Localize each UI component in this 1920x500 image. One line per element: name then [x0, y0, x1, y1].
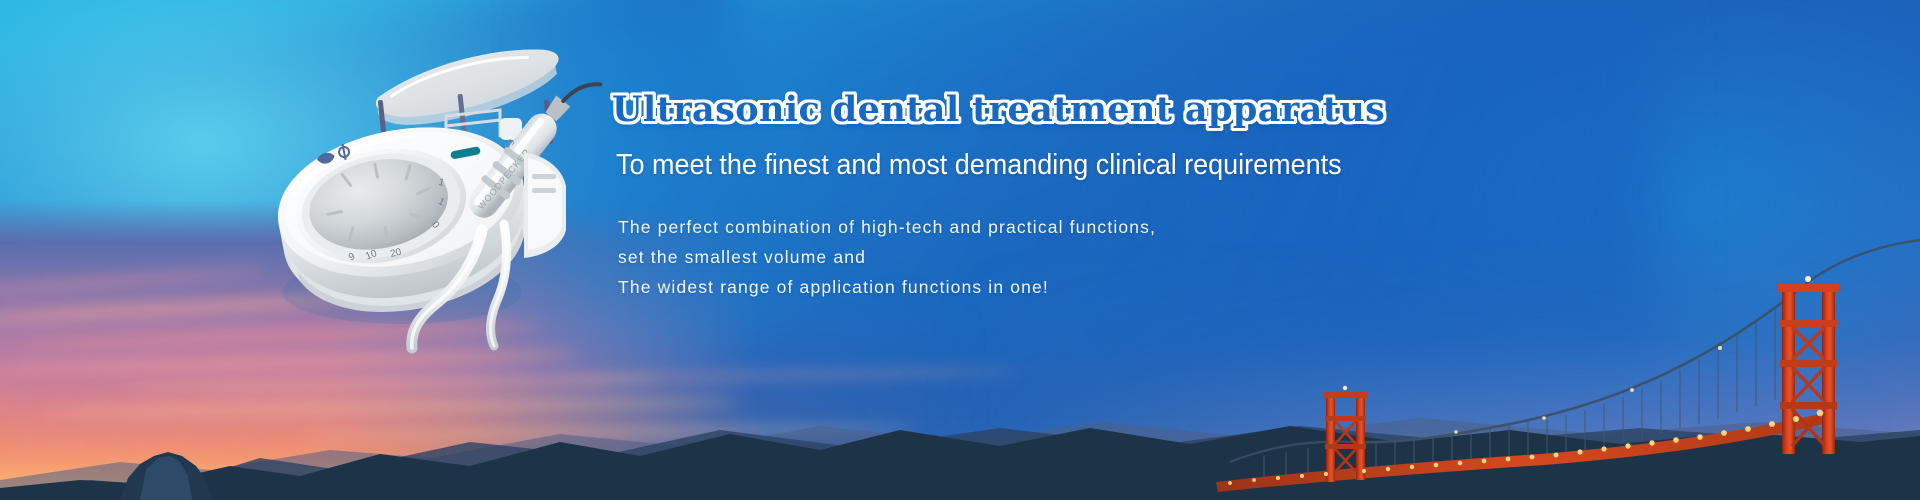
bridge-tower-beacon — [1343, 386, 1347, 390]
description-line: The perfect combination of high-tech and… — [618, 212, 1372, 242]
bridge-tower-far — [1323, 386, 1368, 482]
bridge-tower-beacon — [1805, 276, 1811, 282]
ultrasonic-dental-scaler-device: 0 1 1 9 10 20 — [232, 34, 632, 364]
device-side-panel — [524, 152, 566, 258]
page-title: Ultrasonic dental treatment apparatus — [612, 88, 1372, 132]
bridge-deck — [1216, 414, 1824, 492]
bridge-cable-main — [1352, 295, 1792, 442]
description-line: set the smallest volume and — [618, 242, 1372, 272]
subtitle: To meet the finest and most demanding cl… — [616, 148, 1319, 182]
promo-banner: 0 1 1 9 10 20 — [0, 0, 1920, 500]
description-block: The perfect combination of high-tech and… — [618, 212, 1372, 302]
bridge-cable-lights — [1454, 346, 1722, 434]
description-line: The widest range of application function… — [618, 272, 1372, 302]
bridge-tower-near — [1778, 276, 1839, 454]
banner-copy: Ultrasonic dental treatment apparatus To… — [612, 88, 1372, 302]
